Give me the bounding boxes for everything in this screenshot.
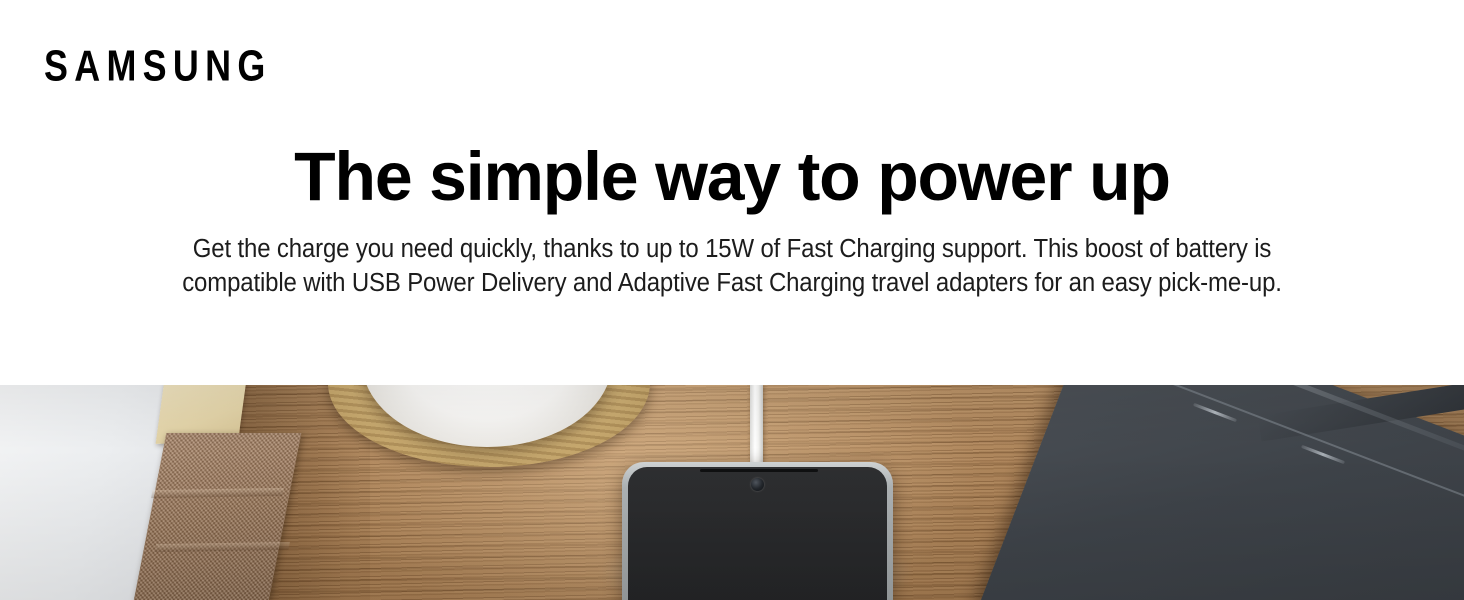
hero-body-line-1: Get the charge you need quickly, thanks …: [44, 233, 1420, 267]
phone-front-camera: [751, 478, 764, 491]
hero-body-line-2: compatible with USB Power Delivery and A…: [44, 267, 1420, 301]
marketing-hero-page: SAMSUNG The simple way to power up Get t…: [0, 0, 1464, 600]
white-charging-cable: [750, 385, 763, 465]
phone-earpiece-speaker: [700, 469, 818, 472]
hero-body-copy: Get the charge you need quickly, thanks …: [44, 233, 1420, 301]
hero-photo: [0, 385, 1464, 600]
samsung-logo: SAMSUNG: [44, 44, 272, 88]
page-title: The simple way to power up: [11, 142, 1453, 211]
